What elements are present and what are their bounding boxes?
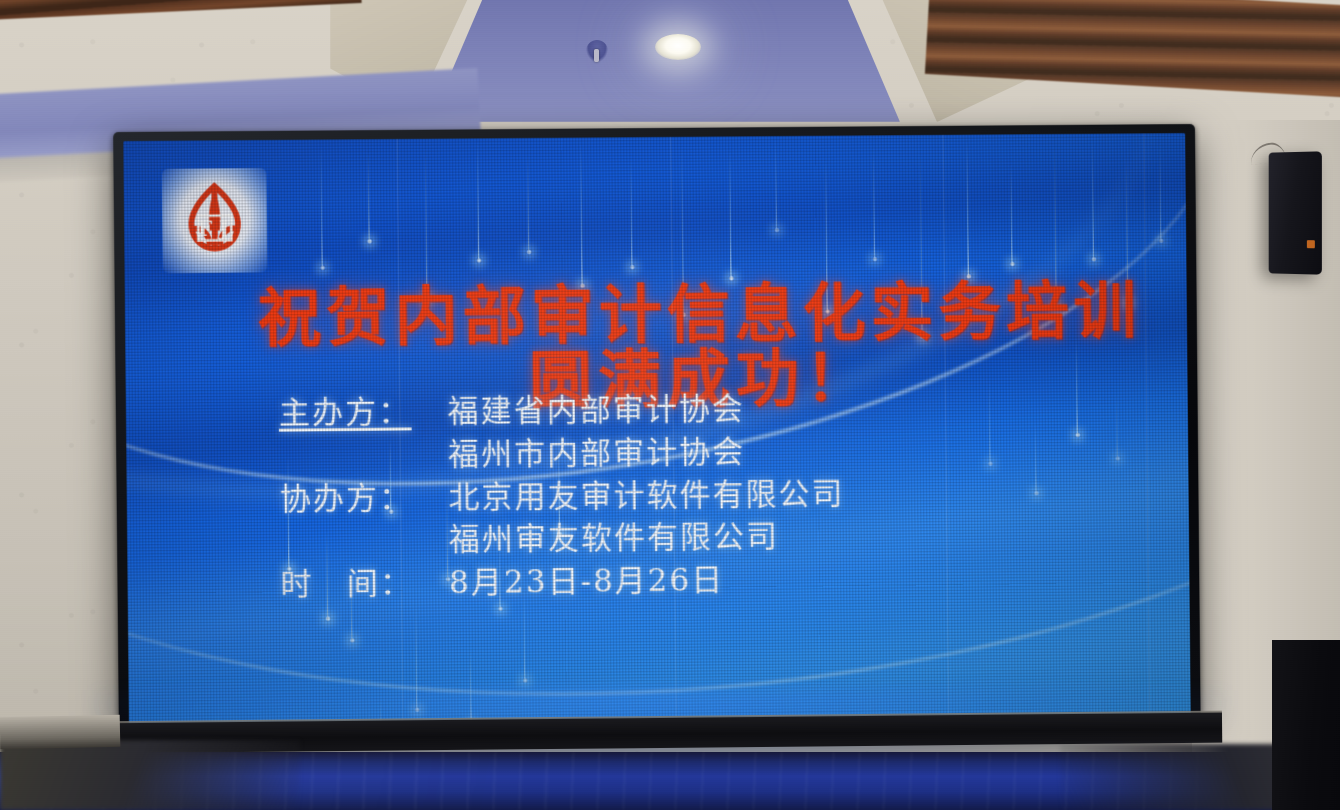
right-column-dark [1272, 640, 1340, 810]
detail-label-organizer: 主办方： [279, 391, 448, 435]
wall-speaker [1269, 151, 1322, 274]
detail-value-date: 8月23日-8月26日 [449, 559, 724, 605]
ceiling-downlight-icon [655, 34, 701, 60]
detail-label-date: 时 间： [280, 562, 449, 607]
slide-content: F J 祝贺内部审计信息化实务培训 圆满成功！ 主办方： 福建省内部审计协会 福… [123, 133, 1190, 729]
fire-sprinkler-icon [586, 40, 608, 62]
slide-details: 主办方： 福建省内部审计协会 福州市内部审计协会 协办方： 北京用友审计软件有限… [126, 384, 1190, 608]
screen-surface[interactable]: F J 祝贺内部审计信息化实务培训 圆满成功！ 主办方： 福建省内部审计协会 福… [123, 133, 1190, 729]
detail-row-date: 时 间： 8月23日-8月26日 [280, 554, 1189, 606]
led-video-wall[interactable]: F J 祝贺内部审计信息化实务培训 圆满成功！ 主办方： 福建省内部审计协会 福… [113, 124, 1201, 740]
speaker-brand-badge [1307, 240, 1315, 248]
detail-value-organizer: 福建省内部审计协会 [447, 388, 745, 434]
photo-scene: F J 祝贺内部审计信息化实务培训 圆满成功！ 主办方： 福建省内部审计协会 福… [0, 0, 1340, 810]
floor-shadow-left [0, 740, 300, 810]
detail-value-coorganizer: 北京用友审计软件有限公司 [448, 473, 844, 520]
detail-label-coorganizer: 协办方： [279, 477, 448, 522]
ceiling-panel [430, 0, 900, 122]
baseboard-left [0, 715, 120, 750]
